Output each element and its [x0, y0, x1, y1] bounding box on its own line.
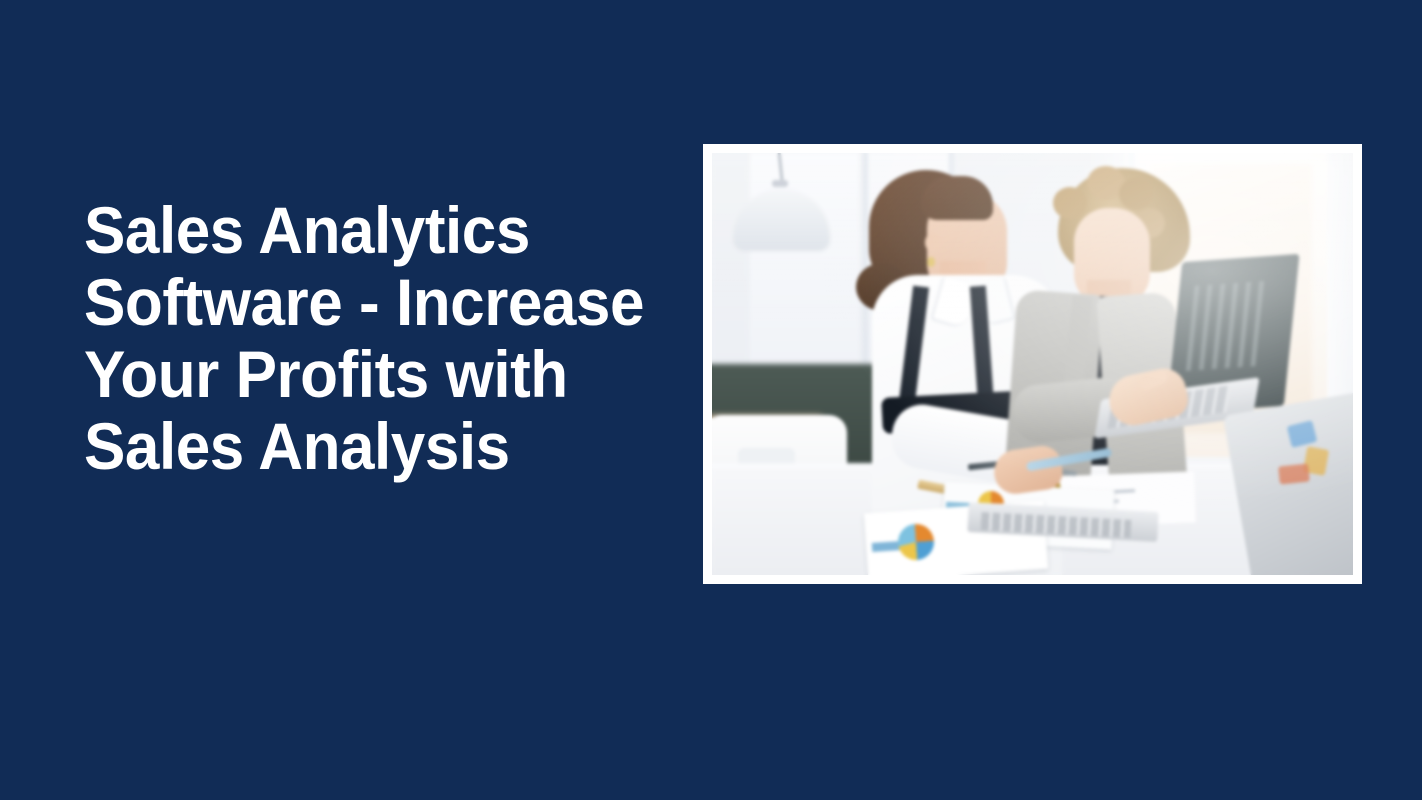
hero-image	[712, 153, 1353, 575]
slide-canvas: Sales Analytics Software - Increase Your…	[0, 0, 1422, 800]
photo-light-overlay	[712, 153, 1353, 575]
hero-image-frame	[703, 144, 1362, 584]
page-title: Sales Analytics Software - Increase Your…	[84, 194, 648, 482]
